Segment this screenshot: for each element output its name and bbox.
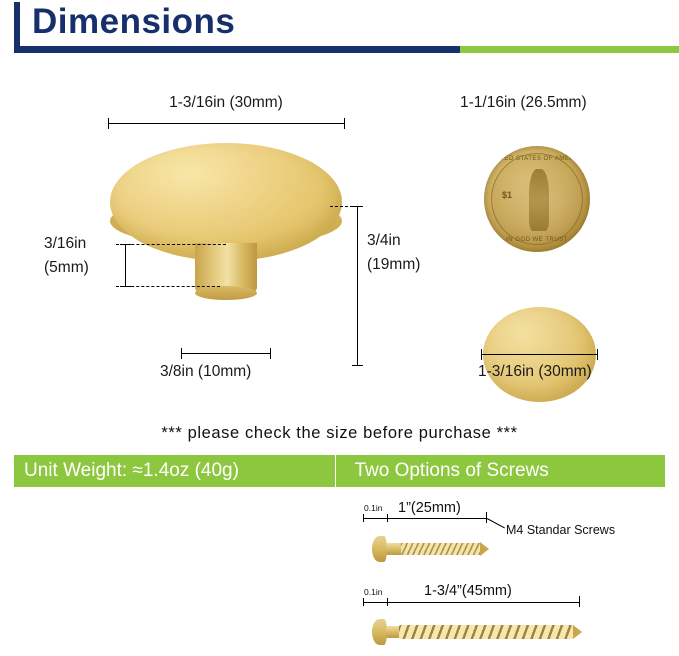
neck-cap-top xyxy=(120,244,131,245)
header-bar-green xyxy=(460,46,679,53)
disc-size-label: 1-3/16in (30mm) xyxy=(478,363,592,381)
screw1-tip xyxy=(480,542,489,556)
knob-height-cap-bottom xyxy=(352,365,363,366)
screw2-threads xyxy=(399,625,574,639)
screws-section: 0.1in 1”(25mm) M4 Standar Screws 0.1in 1… xyxy=(0,487,679,656)
screw2-tip xyxy=(573,625,582,639)
screw2-head-cap-left xyxy=(363,598,364,606)
coin-text-bottom: IN GOD WE TRUST xyxy=(484,237,590,243)
stem-width-cap-left xyxy=(181,348,182,359)
knob-height-dash-top xyxy=(330,206,358,207)
screw1-head xyxy=(372,536,387,562)
knob-height-line xyxy=(357,206,358,366)
screw2-length-label: 1-3/4”(45mm) xyxy=(424,583,512,599)
knob-width-cap-right xyxy=(344,118,345,129)
screw1-shank xyxy=(386,543,402,555)
screw2-length-cap-right xyxy=(579,596,580,607)
stem-width-line xyxy=(181,353,271,354)
screw2-shank xyxy=(386,626,400,638)
screw1-length-line xyxy=(388,518,487,519)
knob-width-line xyxy=(108,123,345,124)
screw2-head xyxy=(372,619,387,645)
page-header: Dimensions xyxy=(0,0,679,58)
knob-height-label-line2: (19mm) xyxy=(367,256,420,274)
neck-cap-bottom xyxy=(120,286,131,287)
disc-width-cap-left xyxy=(481,349,482,360)
knob-stem-base xyxy=(195,286,257,300)
screw1-leader-line xyxy=(487,518,505,528)
neck-dash-bottom xyxy=(116,286,220,287)
screw1-length-label: 1”(25mm) xyxy=(398,500,461,516)
disc-width-line xyxy=(481,354,598,355)
neck-label-line1: 3/16in xyxy=(44,235,86,253)
coin-denomination: $1 xyxy=(502,190,512,200)
knob-width-cap-left xyxy=(108,118,109,129)
screw2-length-line xyxy=(388,602,580,603)
coin-text-top: UNITED STATES OF AMERICA xyxy=(484,156,590,162)
coin-front: UNITED STATES OF AMERICA $1 IN GOD WE TR… xyxy=(484,146,590,252)
info-banner: Unit Weight: ≈1.4oz (40g) Two Options of… xyxy=(14,455,665,487)
unit-weight-label: Unit Weight: ≈1.4oz (40g) xyxy=(14,460,335,482)
neck-label-line2: (5mm) xyxy=(44,259,89,277)
screw1-threads xyxy=(401,543,481,555)
knob-width-label: 1-3/16in (30mm) xyxy=(110,94,342,112)
screw-options-label: Two Options of Screws xyxy=(336,460,665,482)
screw1-head-line xyxy=(363,518,388,519)
page-title: Dimensions xyxy=(32,2,235,42)
header-bar-blue xyxy=(14,46,460,53)
screw2-head-label: 0.1in xyxy=(364,587,382,597)
disc-width-cap-right xyxy=(597,349,598,360)
screw1-head-label: 0.1in xyxy=(364,503,382,513)
coin-liberty-figure xyxy=(529,169,549,231)
screw2-head-line xyxy=(363,602,388,603)
coin-size-label: 1-1/16in (26.5mm) xyxy=(460,94,587,112)
stem-width-cap-right xyxy=(270,348,271,359)
header-accent-tick xyxy=(14,2,20,46)
screw1-note: M4 Standar Screws xyxy=(506,523,615,537)
screw1-head-cap-left xyxy=(363,514,364,522)
neck-dim-line xyxy=(125,244,126,286)
purchase-notice: *** please check the size before purchas… xyxy=(0,424,679,443)
stem-width-label: 3/8in (10mm) xyxy=(160,363,251,381)
illustration-stage: 1-3/16in (30mm) 3/4in (19mm) 3/16in (5mm… xyxy=(0,58,679,430)
neck-dash-top xyxy=(116,244,226,245)
knob-height-label-line1: 3/4in xyxy=(367,232,401,250)
